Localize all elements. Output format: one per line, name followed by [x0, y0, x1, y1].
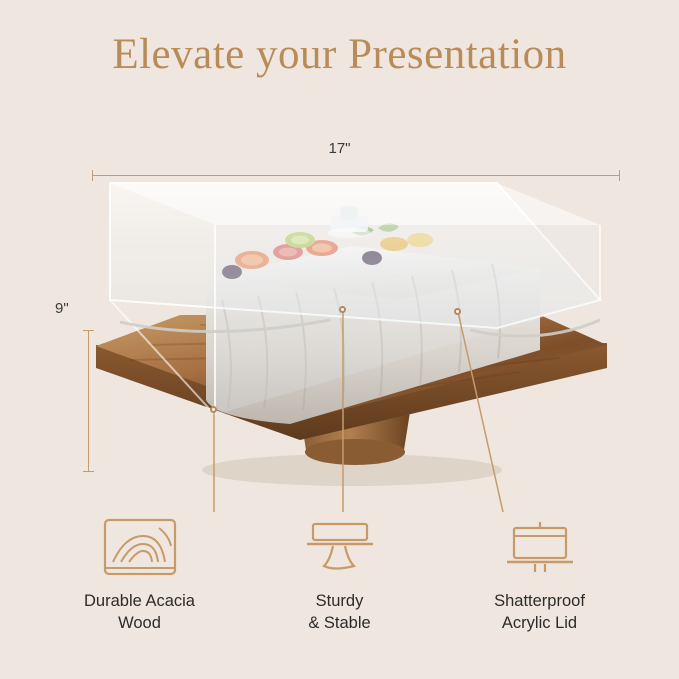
- callout-dot-stand: [339, 306, 346, 313]
- feature-label: Shatterproof Acrylic Lid: [440, 590, 640, 634]
- feature-label: Durable Acacia Wood: [40, 590, 240, 634]
- feature-item-acrylic-lid: Shatterproof Acrylic Lid: [440, 512, 640, 634]
- feature-label: Sturdy & Stable: [240, 590, 440, 634]
- acrylic-lid-icon: [440, 512, 640, 582]
- product-infographic: Elevate your Presentation 17" 9": [0, 0, 679, 679]
- feature-item-sturdy-stable: Sturdy & Stable: [240, 512, 440, 634]
- feature-item-acacia-wood: Durable Acacia Wood: [40, 512, 240, 634]
- callout-dot-wood: [210, 406, 217, 413]
- pedestal-stand-icon: [240, 512, 440, 582]
- feature-list: Durable Acacia Wood Sturdy & Stable: [0, 512, 679, 634]
- acacia-wood-grain-icon: [40, 512, 240, 582]
- callout-dot-lid: [454, 308, 461, 315]
